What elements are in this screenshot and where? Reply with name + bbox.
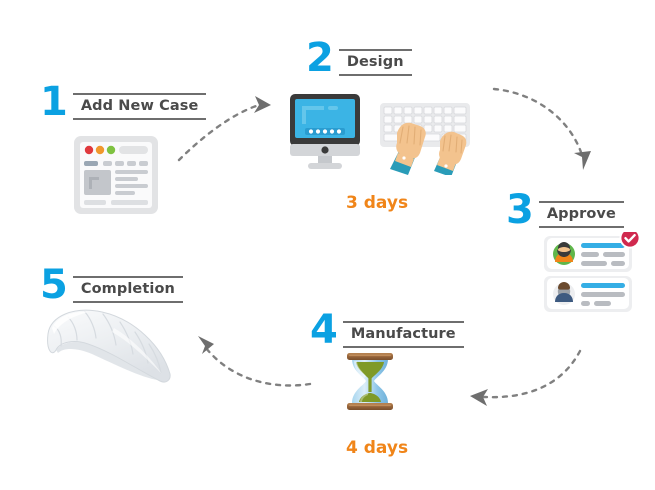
arrow-step1-to-step2	[175, 88, 280, 168]
step-5-header: 5 Completion	[40, 267, 183, 303]
dental-aligner-icon	[30, 300, 185, 393]
arrow-step3-to-step4	[462, 345, 587, 415]
browser-window-icon	[70, 134, 162, 221]
step-4-duration: 4 days	[346, 438, 408, 458]
step-5-number: 5	[40, 267, 67, 303]
workflow-diagram: 1 Add New Case	[0, 0, 655, 490]
arrow-step4-to-step5	[190, 332, 315, 404]
step-4-label: Manufacture	[351, 326, 456, 343]
step-3-label: Approve	[547, 206, 616, 223]
monitor-icon	[286, 92, 364, 177]
arrow-step2-to-step3	[492, 83, 602, 178]
step-2-label-box: Design	[339, 49, 412, 76]
step-5-label: Completion	[81, 281, 175, 298]
step-3-header: 3 Approve	[506, 192, 624, 228]
approved-user-cards-icon	[538, 232, 648, 321]
keyboard-and-hands-icon	[378, 97, 472, 180]
step-2-label: Design	[347, 54, 404, 71]
step-3-label-box: Approve	[539, 201, 624, 228]
step-2-duration: 3 days	[346, 193, 408, 213]
step-4-label-box: Manufacture	[343, 321, 464, 348]
step-4-header: 4 Manufacture	[310, 312, 464, 348]
step-2-number: 2	[306, 40, 333, 76]
step-1-number: 1	[40, 84, 67, 120]
hourglass-icon	[341, 350, 399, 421]
step-2-header: 2 Design	[306, 40, 412, 76]
step-3-number: 3	[506, 192, 533, 228]
step-5-label-box: Completion	[73, 276, 183, 303]
